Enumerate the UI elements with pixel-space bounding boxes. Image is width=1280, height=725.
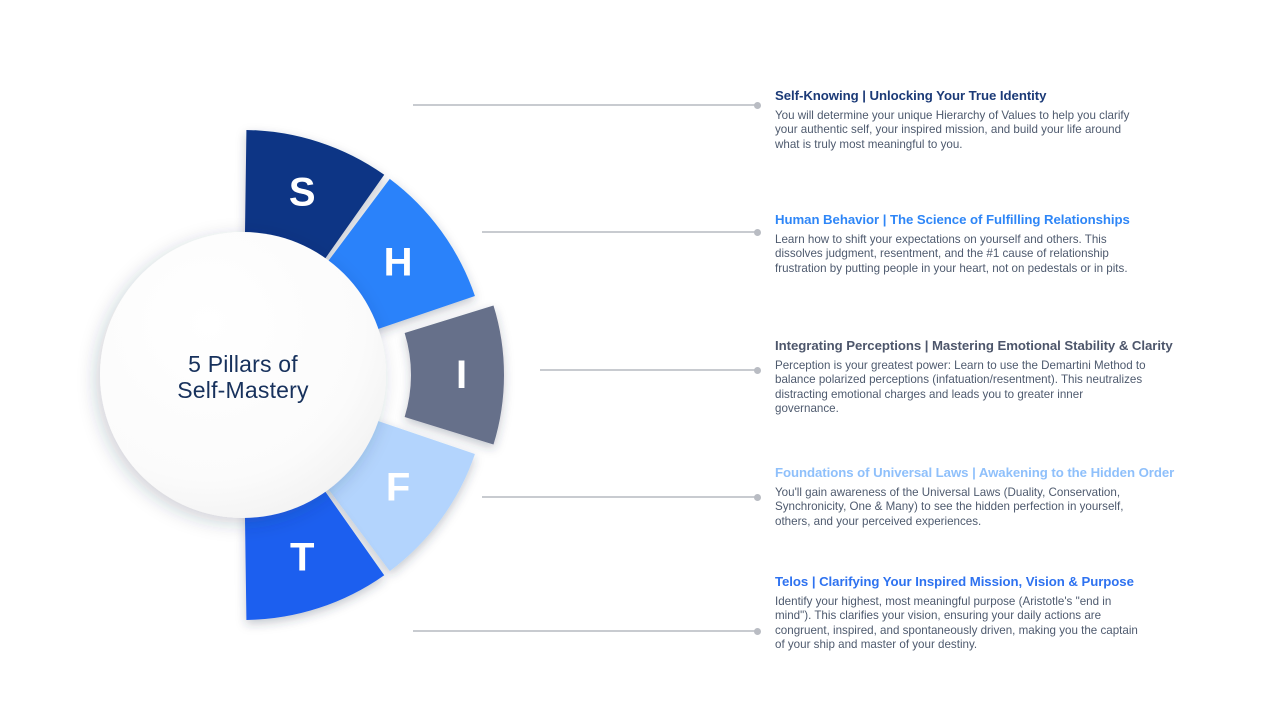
hub-title-line-2: Self-Mastery xyxy=(177,377,309,403)
hub-title-line-1: 5 Pillars of xyxy=(188,351,298,377)
connector-endpoint-3 xyxy=(754,367,761,374)
segment-letter-t: T xyxy=(290,535,314,579)
pillar-title-3: Integrating Perceptions | Mastering Emot… xyxy=(775,338,1175,354)
connector-line-5 xyxy=(413,630,758,632)
wheel-svg: SHIFT 5 Pillars of Self-Mastery xyxy=(0,0,700,720)
connector-line-1 xyxy=(413,104,758,106)
pillar-title-2: Human Behavior | The Science of Fulfilli… xyxy=(775,212,1175,228)
pillar-body-1: You will determine your unique Hierarchy… xyxy=(775,109,1147,152)
pillar-item-1: Self-Knowing | Unlocking Your True Ident… xyxy=(775,88,1175,152)
segment-letter-i: I xyxy=(456,353,467,397)
pillar-body-3: Perception is your greatest power: Learn… xyxy=(775,359,1147,416)
pillar-body-2: Learn how to shift your expectations on … xyxy=(775,233,1147,276)
segment-letter-s: S xyxy=(289,171,316,215)
wheel-hub: 5 Pillars of Self-Mastery xyxy=(100,232,386,518)
connector-line-4 xyxy=(482,496,758,498)
pillar-title-5: Telos | Clarifying Your Inspired Mission… xyxy=(775,574,1175,590)
infographic-canvas: SHIFT 5 Pillars of Self-Mastery Self-Kno… xyxy=(0,0,1280,720)
pillar-item-4: Foundations of Universal Laws | Awakenin… xyxy=(775,465,1175,529)
segment-letter-f: F xyxy=(386,466,410,510)
pillar-item-2: Human Behavior | The Science of Fulfilli… xyxy=(775,212,1175,276)
connector-endpoint-1 xyxy=(754,102,761,109)
pillars-wheel-diagram: SHIFT 5 Pillars of Self-Mastery xyxy=(0,0,700,720)
connector-endpoint-5 xyxy=(754,628,761,635)
connector-endpoint-2 xyxy=(754,229,761,236)
pillar-title-1: Self-Knowing | Unlocking Your True Ident… xyxy=(775,88,1175,104)
connector-endpoint-4 xyxy=(754,494,761,501)
pillar-item-5: Telos | Clarifying Your Inspired Mission… xyxy=(775,574,1175,652)
wheel-segment-integrating-perceptions[interactable] xyxy=(405,306,504,445)
pillar-body-4: You'll gain awareness of the Universal L… xyxy=(775,486,1147,529)
pillar-body-5: Identify your highest, most meaningful p… xyxy=(775,595,1147,652)
pillar-title-4: Foundations of Universal Laws | Awakenin… xyxy=(775,465,1175,481)
segment-letter-h: H xyxy=(384,240,413,284)
connector-line-2 xyxy=(482,231,758,233)
connector-line-3 xyxy=(540,369,758,371)
pillar-item-3: Integrating Perceptions | Mastering Emot… xyxy=(775,338,1175,416)
